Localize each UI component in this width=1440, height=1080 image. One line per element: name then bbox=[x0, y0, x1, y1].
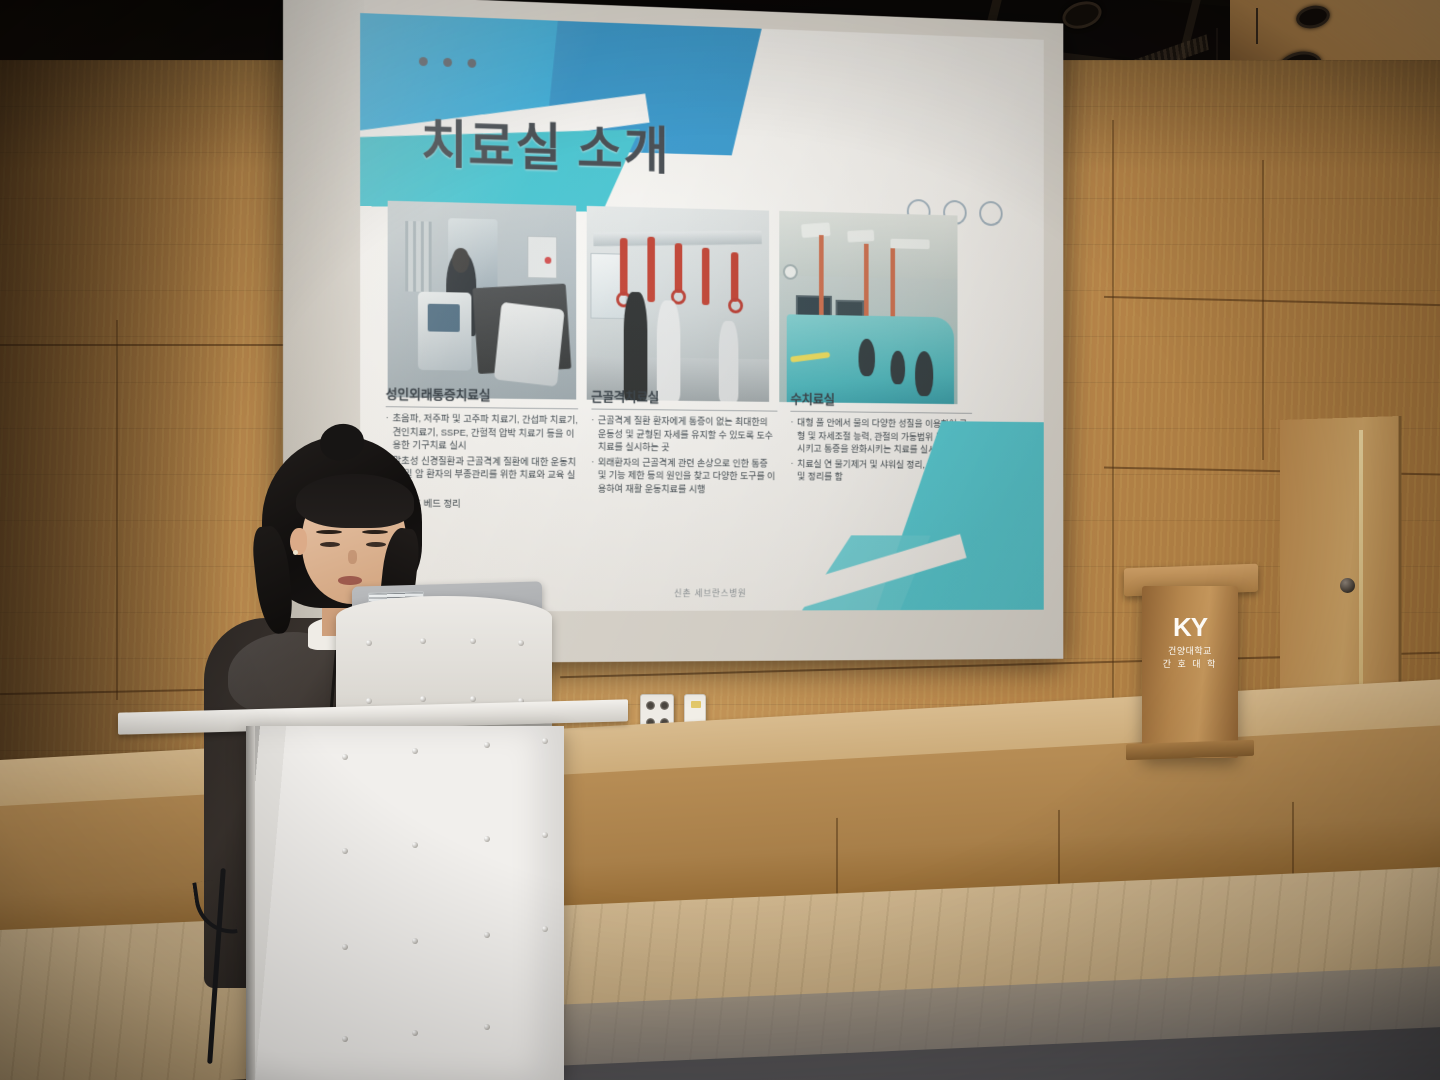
pool-patient bbox=[891, 350, 905, 384]
photo-hydrotherapy bbox=[780, 211, 958, 404]
socket-hole bbox=[646, 701, 655, 710]
body-screw bbox=[542, 738, 548, 744]
machine-display bbox=[428, 304, 460, 332]
ceiling-light-panel bbox=[801, 222, 831, 237]
wall-clock bbox=[783, 264, 798, 280]
therapist-head bbox=[452, 247, 469, 273]
pool-lift-pole bbox=[819, 235, 824, 323]
panel-screw bbox=[366, 698, 372, 704]
pool-room-ceiling bbox=[780, 211, 958, 280]
therapist-dark bbox=[623, 292, 647, 401]
podium-logo: KY 건양대학교 간 호 대 학 bbox=[1150, 614, 1230, 670]
red-sling bbox=[675, 243, 683, 293]
lectern-body bbox=[246, 726, 564, 1080]
panel-screw bbox=[470, 638, 476, 644]
wall-rail bbox=[405, 221, 432, 292]
bullet-item: 근골격계 질환 환자에게 통증이 없는 최대한의 운동성 및 균형된 자세를 유… bbox=[591, 414, 778, 455]
photo-pain-clinic bbox=[388, 201, 576, 400]
column-rule bbox=[791, 411, 972, 414]
socket-hole bbox=[660, 701, 669, 710]
presenter-mouth bbox=[338, 576, 362, 585]
column-rule bbox=[591, 409, 778, 412]
pool-lift-pole bbox=[891, 248, 896, 324]
dot-icon bbox=[443, 58, 452, 67]
body-screw bbox=[484, 932, 490, 938]
pool-lift-pole bbox=[864, 243, 869, 323]
body-screw bbox=[484, 1024, 490, 1030]
projected-slide-area: 치료실 소개 bbox=[360, 13, 1044, 612]
body-screw bbox=[412, 1030, 418, 1036]
dot-icon bbox=[468, 59, 477, 68]
presenter-eyebrow bbox=[362, 530, 388, 534]
ceiling-light-panel bbox=[891, 238, 930, 248]
slide-title: 치료실 소개 bbox=[421, 103, 670, 184]
ceiling-light-panel bbox=[847, 229, 874, 242]
body-screw bbox=[412, 938, 418, 944]
body-screw bbox=[484, 836, 490, 842]
body-screw bbox=[542, 926, 548, 932]
red-sling bbox=[647, 236, 655, 302]
column-rule bbox=[386, 406, 578, 409]
patient-white-coat bbox=[656, 300, 680, 401]
presentation-room-photo: 치료실 소개 bbox=[0, 0, 1440, 1080]
slide: 치료실 소개 bbox=[360, 13, 1044, 612]
column-heading: 수치료실 bbox=[791, 389, 972, 409]
wall-panel-box bbox=[527, 235, 557, 278]
wall-panel-seam-vertical bbox=[1262, 160, 1264, 460]
wall-panel-seam-vertical bbox=[116, 320, 118, 700]
presenter-earring bbox=[293, 550, 298, 555]
panel-screw bbox=[470, 696, 476, 702]
column-heading: 근골격치료실 bbox=[591, 386, 778, 407]
panel-screw bbox=[420, 638, 426, 644]
presenter-eye bbox=[320, 542, 340, 547]
bullet-item: 외래환자의 근골격계 관련 손상으로 인한 통증 및 기능 제한 등의 원인을 … bbox=[591, 456, 778, 497]
body-screw bbox=[412, 748, 418, 754]
body-screw bbox=[342, 754, 348, 760]
red-sling bbox=[731, 252, 738, 302]
sling-handle bbox=[728, 298, 743, 314]
slide-photo-row bbox=[388, 201, 958, 404]
red-sling bbox=[620, 238, 628, 296]
photo-musculoskeletal bbox=[586, 206, 769, 402]
panel-screw bbox=[420, 696, 426, 702]
red-sling bbox=[702, 247, 709, 305]
presenter-eyebrow bbox=[316, 530, 342, 534]
column-heading: 성인외래통증치료실 bbox=[386, 383, 578, 404]
podium-logo-line1: 건양대학교 bbox=[1150, 644, 1230, 657]
body-screw bbox=[484, 742, 490, 748]
column-musculoskeletal: 근골격치료실 근골격계 질환 환자에게 통증이 없는 최대한의 운동성 및 균형… bbox=[591, 386, 778, 582]
body-screw bbox=[542, 832, 548, 838]
ring-icon bbox=[979, 201, 1002, 226]
presenter-bangs bbox=[296, 474, 414, 528]
dot-icon bbox=[419, 57, 428, 66]
podium-logo-line2: 간 호 대 학 bbox=[1150, 657, 1230, 670]
body-screw bbox=[342, 848, 348, 854]
wall-panel-seam bbox=[0, 344, 300, 346]
podium-logo-mark: KY bbox=[1150, 614, 1230, 640]
body-screw bbox=[342, 944, 348, 950]
presenter-nose bbox=[348, 550, 357, 564]
panel-screw bbox=[518, 640, 524, 646]
bed-sheet bbox=[494, 302, 565, 387]
body-screw bbox=[342, 1036, 348, 1042]
ceiling-cable bbox=[1256, 8, 1274, 44]
body-screw bbox=[412, 842, 418, 848]
pool-patient bbox=[858, 338, 874, 376]
wooden-podium[interactable]: KY 건양대학교 간 호 대 학 bbox=[1142, 586, 1238, 758]
door-knob[interactable] bbox=[1340, 578, 1355, 593]
switch-toggle[interactable] bbox=[691, 701, 701, 708]
panel-screw bbox=[366, 640, 372, 646]
presenter-eye bbox=[366, 542, 386, 547]
